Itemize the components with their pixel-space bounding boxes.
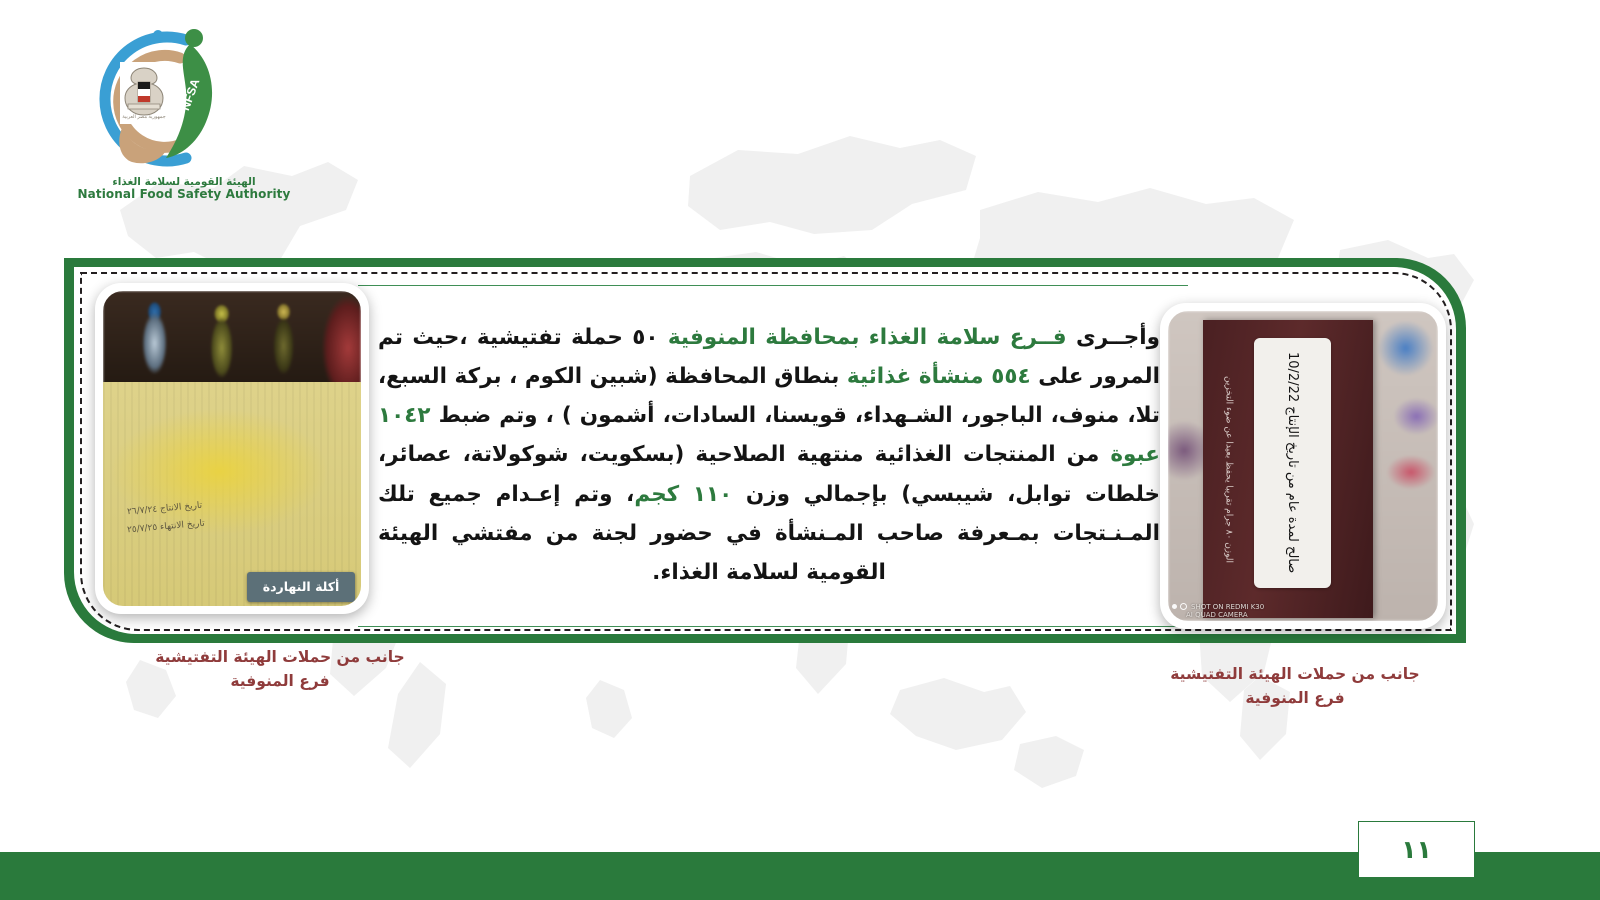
caption-left: جانب من حملات الهيئة التفتيشية فرع المنو… bbox=[120, 645, 440, 693]
caption-left-line-2: فرع المنوفية bbox=[120, 669, 440, 693]
text-run-1: وأجــرى bbox=[1067, 325, 1160, 350]
photo-left-image: تاريخ الانتاج ٢٦/٧/٢٤ تاريخ الانتهاء ٢٥/… bbox=[103, 291, 361, 606]
hairline-left bbox=[358, 285, 1188, 286]
photo-left-handwriting-line-1: تاريخ الانتاج ٢٦/٧/٢٤ bbox=[127, 501, 203, 518]
caption-left-line-1: جانب من حملات الهيئة التفتيشية bbox=[120, 645, 440, 669]
logo-name-en: National Food Safety Authority bbox=[64, 188, 304, 202]
text-run-2: ٥٠ حملة تفتيشية ، bbox=[459, 325, 668, 350]
caption-right-line-2: فرع المنوفية bbox=[1110, 686, 1480, 710]
photo-right-expiry-label: صالح لمدة عام من تاريخ الإنتاج 10/2/22 bbox=[1254, 338, 1331, 588]
photo-right-camera-watermark: SHOT ON REDMI K30 AI QUAD CAMERA bbox=[1172, 603, 1264, 619]
nfsa-logo: NFSA جمهورية مصر العربية الهيئة القومية … bbox=[64, 24, 314, 209]
page-number: ١١ bbox=[1358, 821, 1475, 878]
photo-left-handwriting-line-2: تاريخ الانتهاء ٢٥/٧/٢٥ bbox=[127, 519, 205, 536]
photo-right-image: الوزن ٨٠ جرام تقريبا يحفظ بعيدا عن ضوء ا… bbox=[1168, 311, 1438, 621]
logo-wordmark: الهيئة القومية لسلامة الغذاء National Fo… bbox=[64, 176, 304, 202]
svg-text:جمهورية مصر العربية: جمهورية مصر العربية bbox=[122, 114, 166, 120]
photo-right-side-print: الوزن ٨٠ جرام تقريبا يحفظ بعيدا عن ضوء ا… bbox=[1210, 362, 1247, 576]
caption-right: جانب من حملات الهيئة التفتيشية فرع المنو… bbox=[1110, 662, 1480, 710]
inspection-photo-right[interactable]: الوزن ٨٠ جرام تقريبا يحفظ بعيدا عن ضوء ا… bbox=[1160, 303, 1446, 629]
photo-left-shelf-area bbox=[103, 291, 361, 386]
text-run-green-facilities: ٥٥٤ منشأة غذائية bbox=[847, 364, 1031, 389]
photo-left-cardboard-area: تاريخ الانتاج ٢٦/٧/٢٤ تاريخ الانتهاء ٢٥/… bbox=[103, 382, 361, 606]
text-run-green-weight: ١١٠ كجم bbox=[634, 482, 732, 507]
hairline-right bbox=[358, 626, 1188, 627]
caption-right-line-1: جانب من حملات الهيئة التفتيشية bbox=[1110, 662, 1480, 686]
photo-left-sticker: أكلة النهاردة bbox=[247, 572, 355, 602]
body-paragraph: وأجــرى فــرع سلامة الغذاء بمحافظة المنو… bbox=[378, 318, 1160, 592]
nfsa-logo-mark: NFSA جمهورية مصر العربية bbox=[74, 24, 244, 174]
inspection-photo-left[interactable]: تاريخ الانتاج ٢٦/٧/٢٤ تاريخ الانتهاء ٢٥/… bbox=[95, 283, 369, 614]
body-text: وأجــرى فــرع سلامة الغذاء بمحافظة المنو… bbox=[378, 318, 1160, 592]
photo-right-product-box: الوزن ٨٠ جرام تقريبا يحفظ بعيدا عن ضوء ا… bbox=[1203, 320, 1373, 618]
text-run-green-branch: فــرع سلامة الغذاء بمحافظة المنوفية bbox=[668, 325, 1067, 350]
